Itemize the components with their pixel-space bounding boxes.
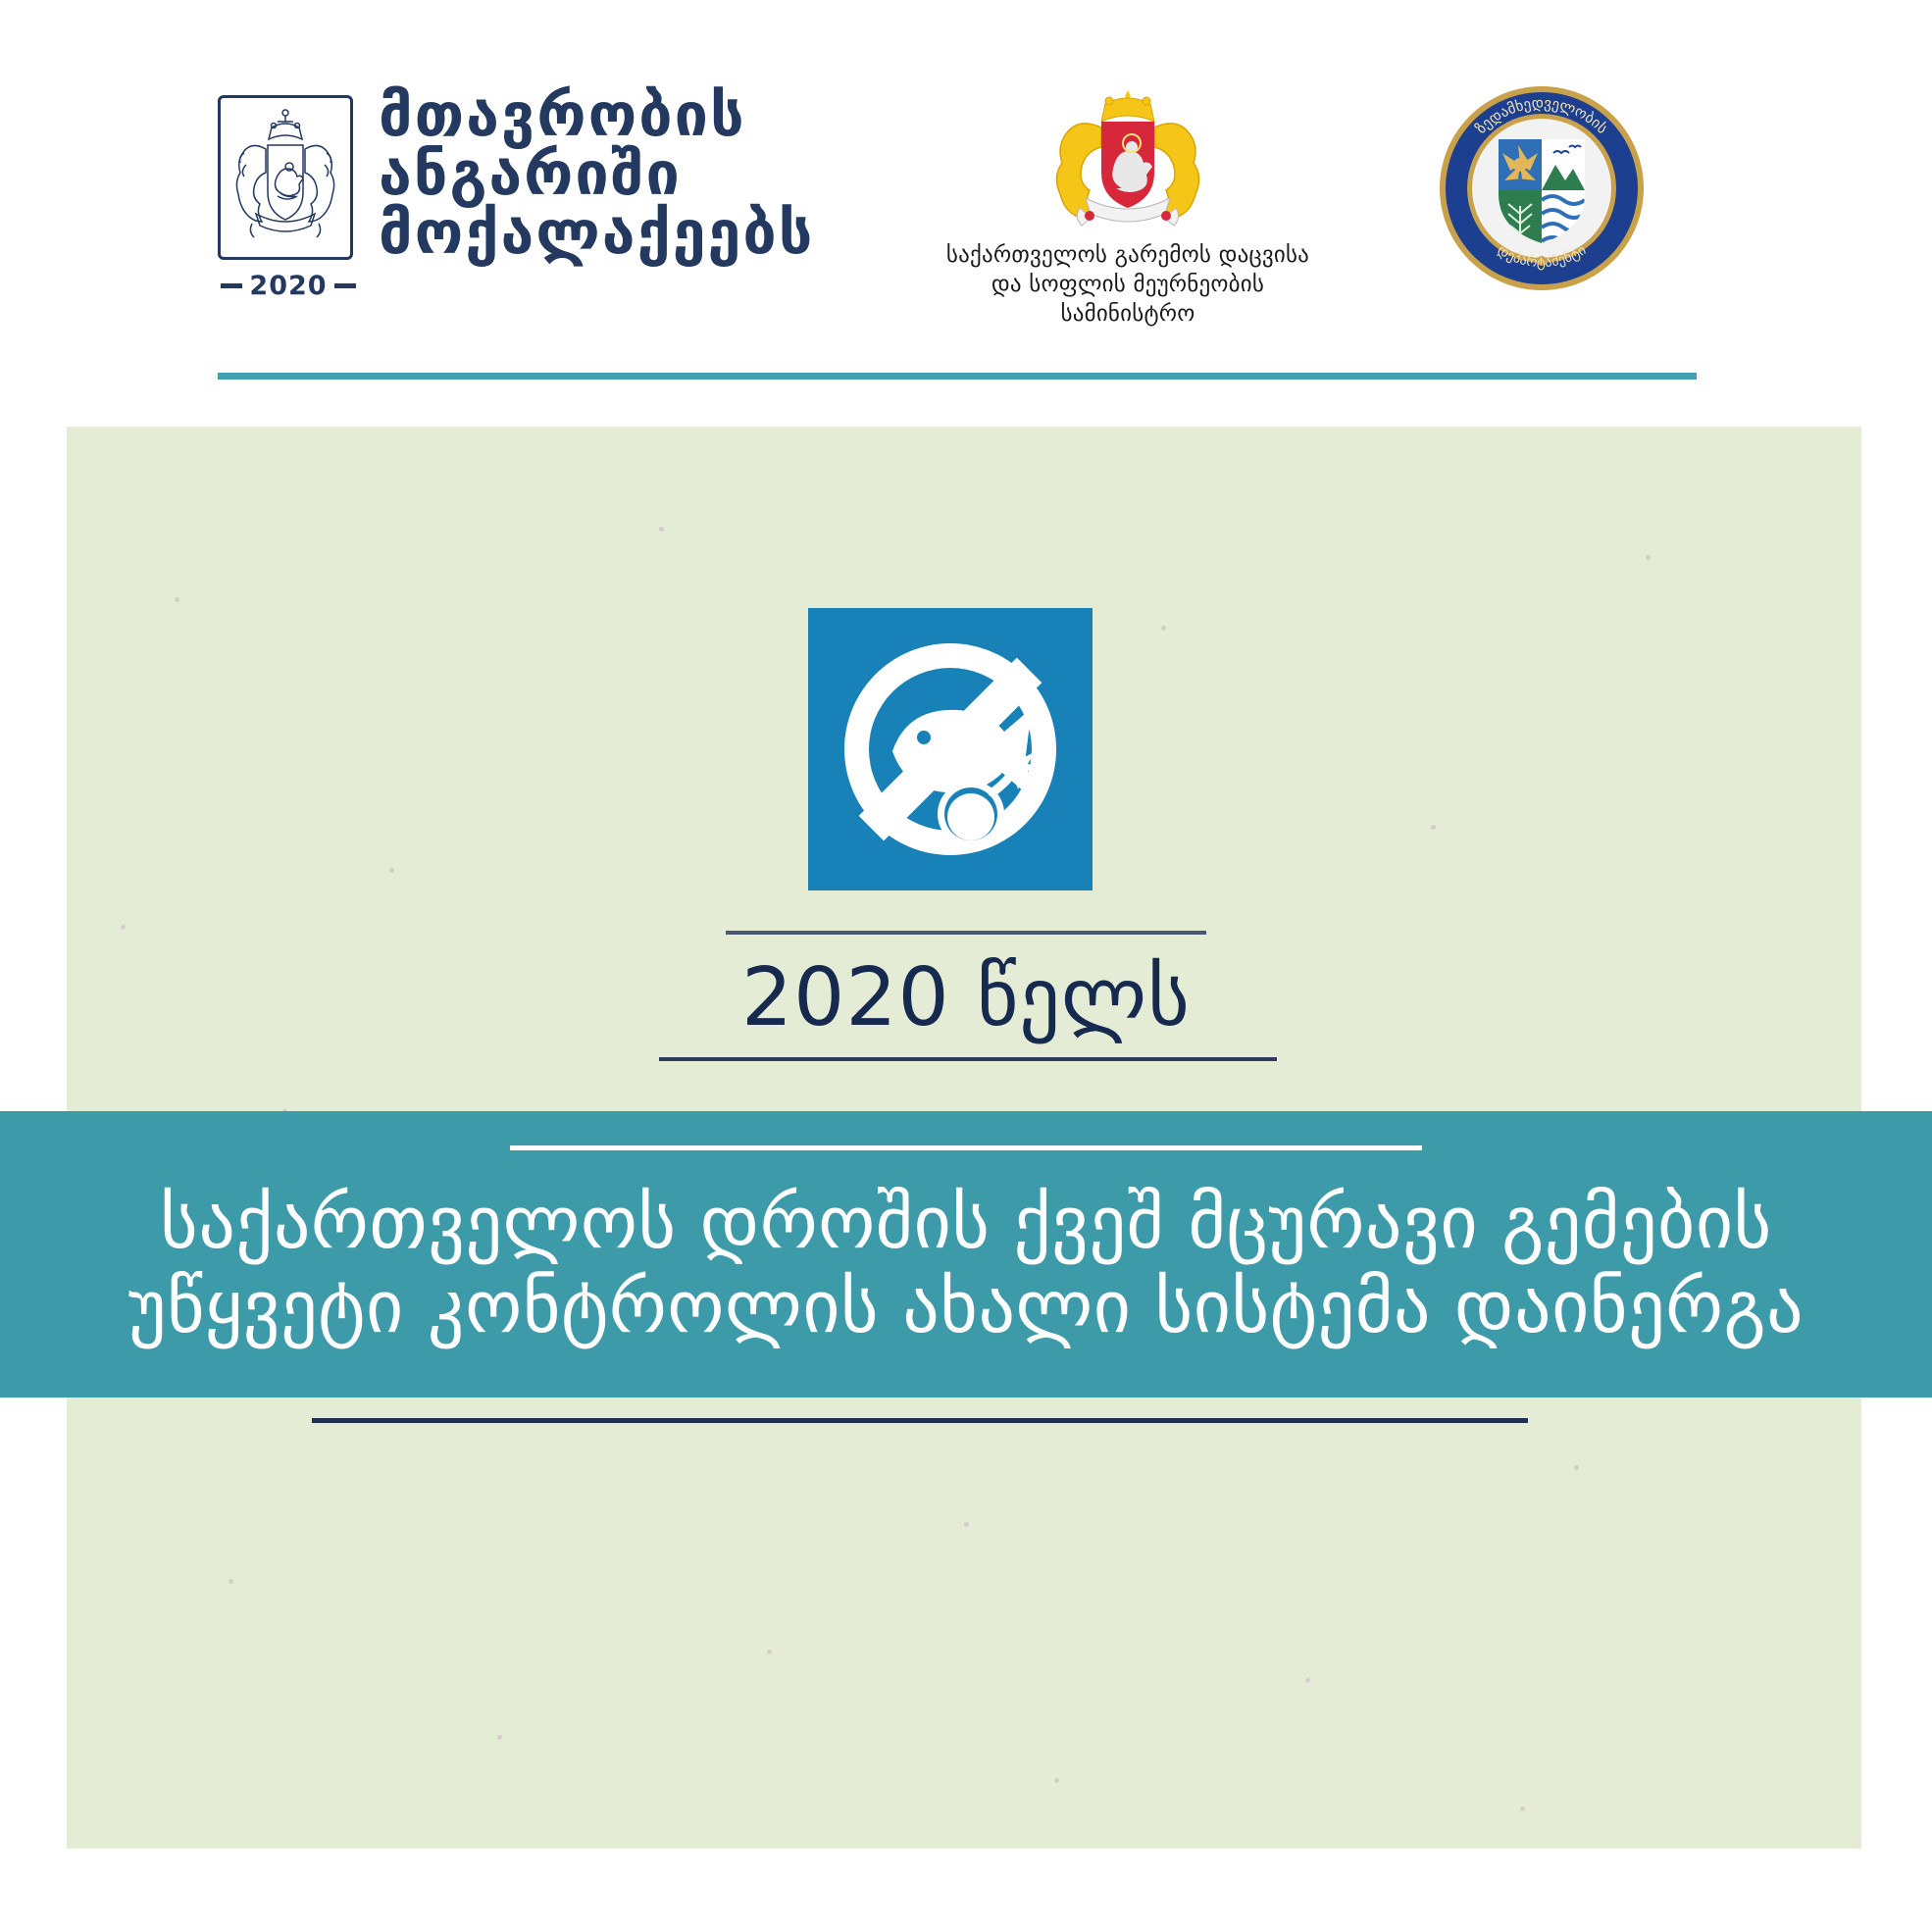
wordmark-line-1: მთავრობის [379, 86, 814, 145]
government-report-wordmark: მთავრობის ანგარიში მოქალაქეებს [379, 86, 814, 268]
government-report-logo: 2020 მთავრობის ანგარიში მოქალაქეებს [218, 86, 814, 268]
rule-below-year [659, 1057, 1277, 1061]
header: 2020 მთავრობის ანგარიში მოქალაქეებს [0, 0, 1932, 382]
headline: საქართველოს დროშის ქვეშ მცურავი გემების … [0, 1182, 1932, 1350]
logo-year: 2020 [249, 271, 327, 301]
logo-year-row: 2020 [221, 271, 356, 301]
headline-line-1: საქართველოს დროშის ქვეშ მცურავი გემების [0, 1182, 1932, 1266]
headline-line-2: უწყვეტი კონტროლის ახალი სისტემა დაინერგა [0, 1266, 1932, 1350]
header-divider [218, 373, 1697, 380]
right-dash [334, 283, 356, 288]
ministry-name: საქართველოს გარემოს დაცვისა და სოფლის მე… [922, 241, 1334, 330]
no-dynamite-fishing-icon [808, 608, 1093, 890]
banner-top-rule [510, 1145, 1422, 1150]
wordmark-line-3: მოქალაქეებს [379, 204, 814, 263]
ministry-line-1: საქართველოს გარემოს დაცვისა [922, 241, 1334, 271]
coat-of-arms-outline-icon: 2020 [218, 95, 353, 260]
poster-page: 2020 მთავრობის ანგარიში მოქალაქეებს [0, 0, 1932, 1931]
rule-above-year [726, 931, 1206, 935]
rule-below-banner [312, 1418, 1528, 1423]
wordmark-line-2: ანგარიში [379, 145, 814, 204]
ministry-line-2: და სოფლის მეურნეობის სამინისტრო [922, 271, 1334, 330]
left-dash [221, 283, 242, 288]
environmental-supervision-seal-icon: ზედამხედველობის დეპარტამენტი [1438, 84, 1646, 292]
year-label: 2020 წელს [0, 951, 1932, 1044]
ministry-logo: საქართველოს გარემოს დაცვისა და სოფლის მე… [922, 84, 1334, 330]
coat-of-arms-color-icon [1035, 84, 1221, 231]
